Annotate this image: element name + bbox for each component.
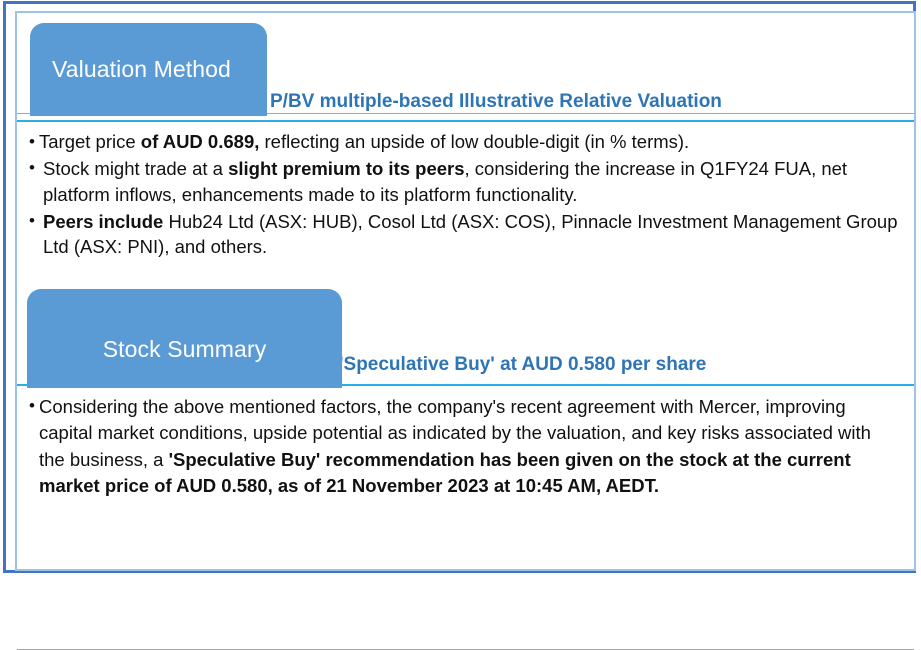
list-item-text: Target price of AUD 0.689, reflecting an…: [39, 130, 900, 154]
section-body-valuation-method: • Target price of AUD 0.689, reflecting …: [17, 122, 914, 279]
section-heading-stock-summary: 'Speculative Buy' at AUD 0.580 per share: [339, 354, 706, 376]
section-tab-label: Stock Summary: [103, 336, 267, 363]
list-item-text: Considering the above mentioned factors,…: [39, 394, 900, 499]
bullet-icon: •: [29, 156, 43, 180]
list-item: • Peers include Hub24 Ltd (ASX: HUB), Co…: [29, 209, 900, 259]
content-table: Valuation Method P/BV multiple-based Ill…: [15, 11, 916, 571]
bullet-icon: •: [29, 209, 43, 233]
document-frame: Valuation Method P/BV multiple-based Ill…: [3, 1, 916, 573]
list-item: • Considering the above mentioned factor…: [29, 394, 900, 499]
section-body-stock-summary: • Considering the above mentioned factor…: [17, 386, 914, 571]
section-tab-valuation-method[interactable]: Valuation Method: [30, 23, 267, 116]
list-item-text: Peers include Hub24 Ltd (ASX: HUB), Coso…: [43, 209, 900, 259]
list-item: • Stock might trade at a slight premium …: [29, 156, 900, 206]
bullet-icon: •: [29, 394, 39, 418]
bullet-icon: •: [29, 130, 39, 154]
list-item-text: Stock might trade at a slight premium to…: [43, 156, 900, 206]
section-heading-valuation-method: P/BV multiple-based Illustrative Relativ…: [270, 91, 722, 113]
section-tab-stock-summary[interactable]: Stock Summary: [27, 289, 342, 388]
list-item: • Target price of AUD 0.689, reflecting …: [29, 130, 900, 154]
section-tab-label: Valuation Method: [52, 56, 231, 83]
